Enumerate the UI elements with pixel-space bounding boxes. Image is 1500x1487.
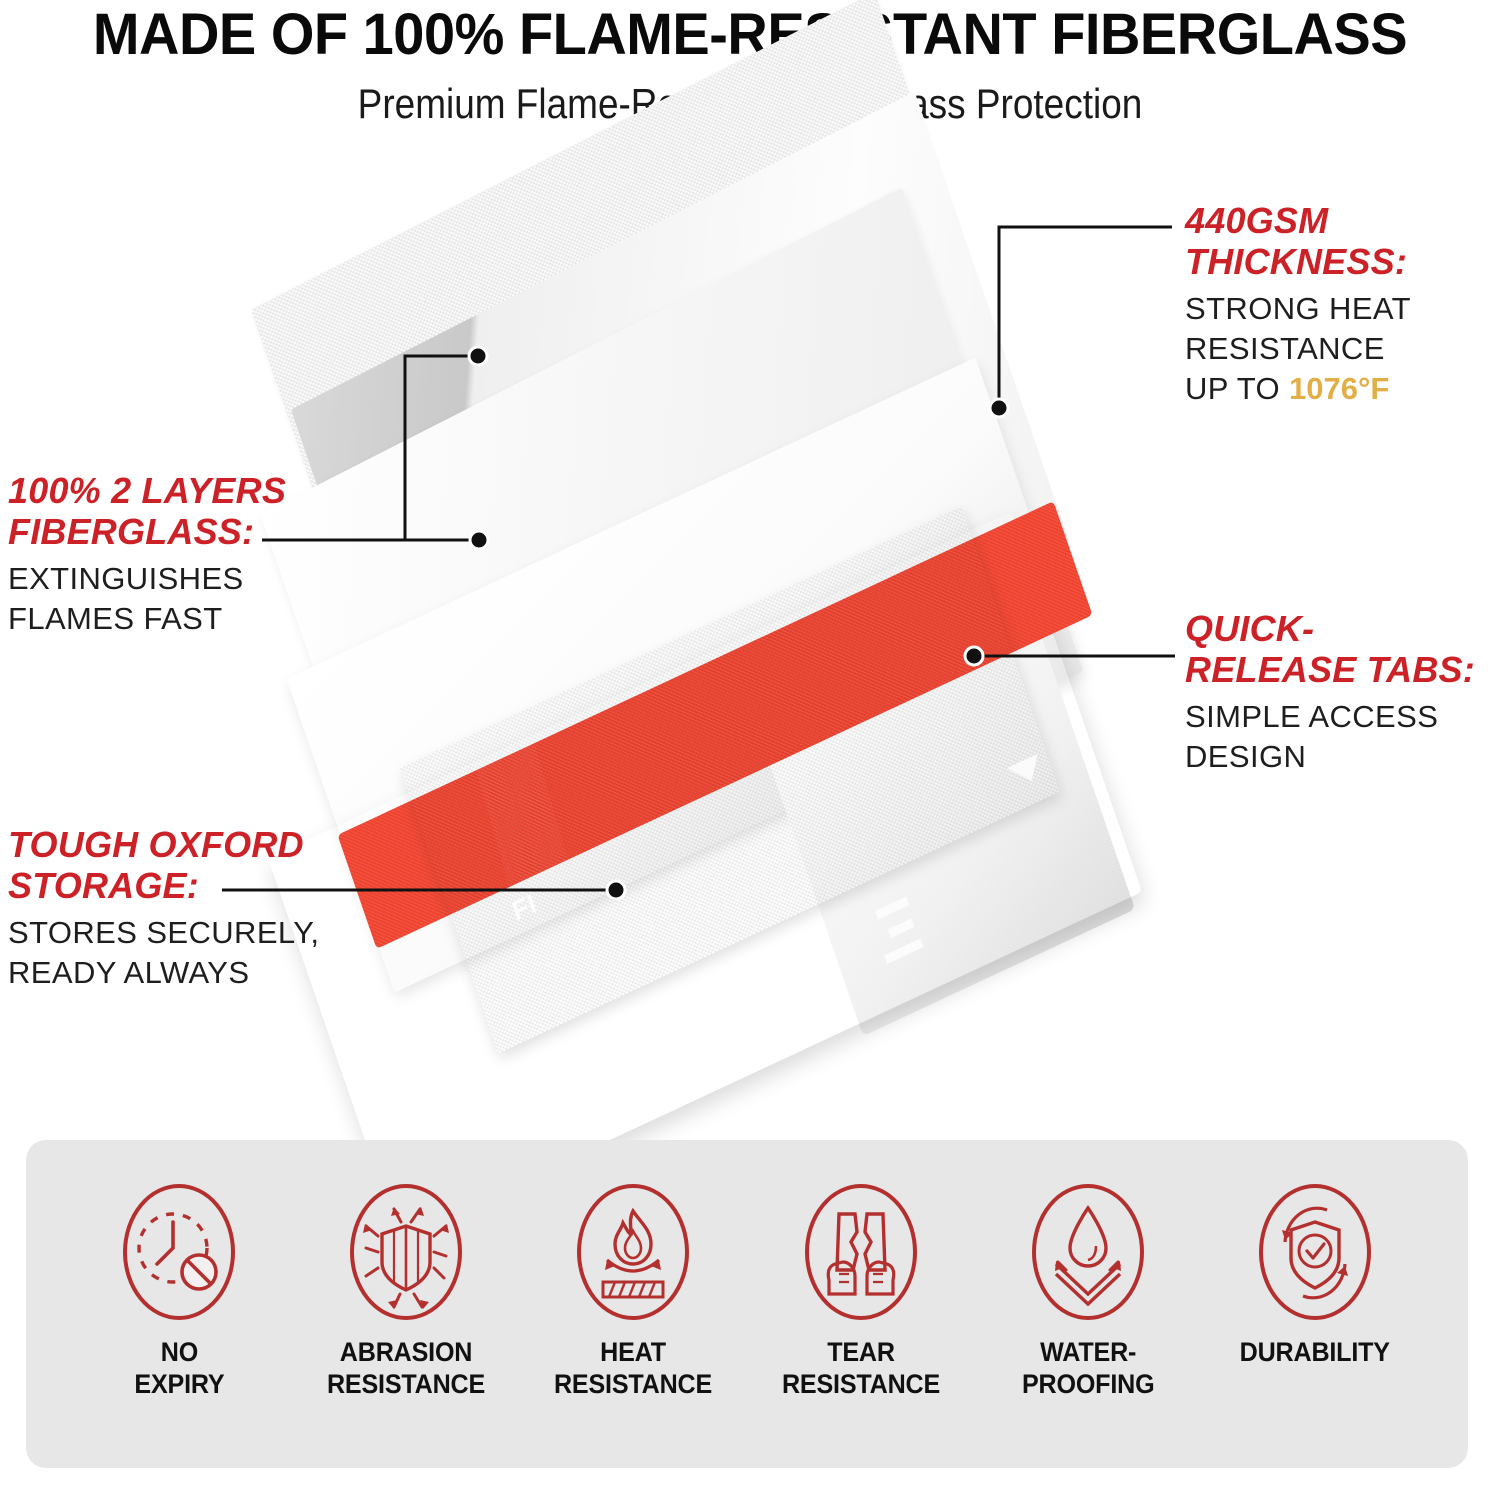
feature-list: NO EXPIRY xyxy=(26,1140,1468,1468)
callout-thickness-body: STRONG HEAT RESISTANCE UP TO 1076°F xyxy=(1185,282,1485,409)
durability-shield-cycle-icon xyxy=(1253,1178,1377,1326)
feature-no-expiry-label: NO EXPIRY xyxy=(134,1326,224,1400)
callout-thickness: 440GSM THICKNESS: STRONG HEAT RESISTANCE… xyxy=(1185,200,1485,409)
feature-abrasion-resistance: ABRASION RESISTANCE xyxy=(295,1178,517,1400)
feature-tear-label: TEAR RESISTANCE xyxy=(781,1326,939,1400)
feature-heat-label: HEAT RESISTANCE xyxy=(554,1326,712,1400)
callout-quick-release-title: QUICK- RELEASE TABS: xyxy=(1185,608,1495,690)
feature-no-expiry: NO EXPIRY xyxy=(68,1178,290,1400)
water-droplet-repel-icon xyxy=(1026,1178,1150,1326)
callout-thickness-title: 440GSM THICKNESS: xyxy=(1185,200,1485,282)
heat-flame-surface-icon xyxy=(571,1178,695,1326)
callout-storage: TOUGH OXFORD STORAGE: STORES SECURELY, R… xyxy=(8,824,348,993)
callout-quick-release: QUICK- RELEASE TABS: SIMPLE ACCESS DESIG… xyxy=(1185,608,1495,777)
callout-layers: 100% 2 LAYERS FIBERGLASS: EXTINGUISHES F… xyxy=(8,470,328,639)
callout-storage-title: TOUGH OXFORD STORAGE: xyxy=(8,824,348,906)
feature-durability-label: DURABILITY xyxy=(1240,1326,1390,1368)
callout-quick-release-body: SIMPLE ACCESS DESIGN xyxy=(1185,690,1495,777)
feature-abrasion-label: ABRASION RESISTANCE xyxy=(327,1326,485,1400)
callout-thickness-temperature: 1076°F xyxy=(1289,371,1389,406)
feature-heat-resistance: HEAT RESISTANCE xyxy=(522,1178,744,1400)
callout-layers-body: EXTINGUISHES FLAMES FAST xyxy=(8,552,328,639)
tear-fabric-hands-icon xyxy=(799,1178,923,1326)
callout-layers-title: 100% 2 LAYERS FIBERGLASS: xyxy=(8,470,328,552)
feature-waterproofing: WATER- PROOFING xyxy=(977,1178,1199,1400)
abrasion-shield-arrows-icon xyxy=(344,1178,468,1326)
feature-durability: DURABILITY xyxy=(1204,1178,1426,1368)
feature-tear-resistance: TEAR RESISTANCE xyxy=(750,1178,972,1400)
no-expiry-clock-icon xyxy=(117,1178,241,1326)
feature-highlights-panel: NO EXPIRY xyxy=(26,1140,1468,1468)
callout-storage-body: STORES SECURELY, READY ALWAYS xyxy=(8,906,348,993)
feature-waterproofing-label: WATER- PROOFING xyxy=(1022,1326,1154,1400)
